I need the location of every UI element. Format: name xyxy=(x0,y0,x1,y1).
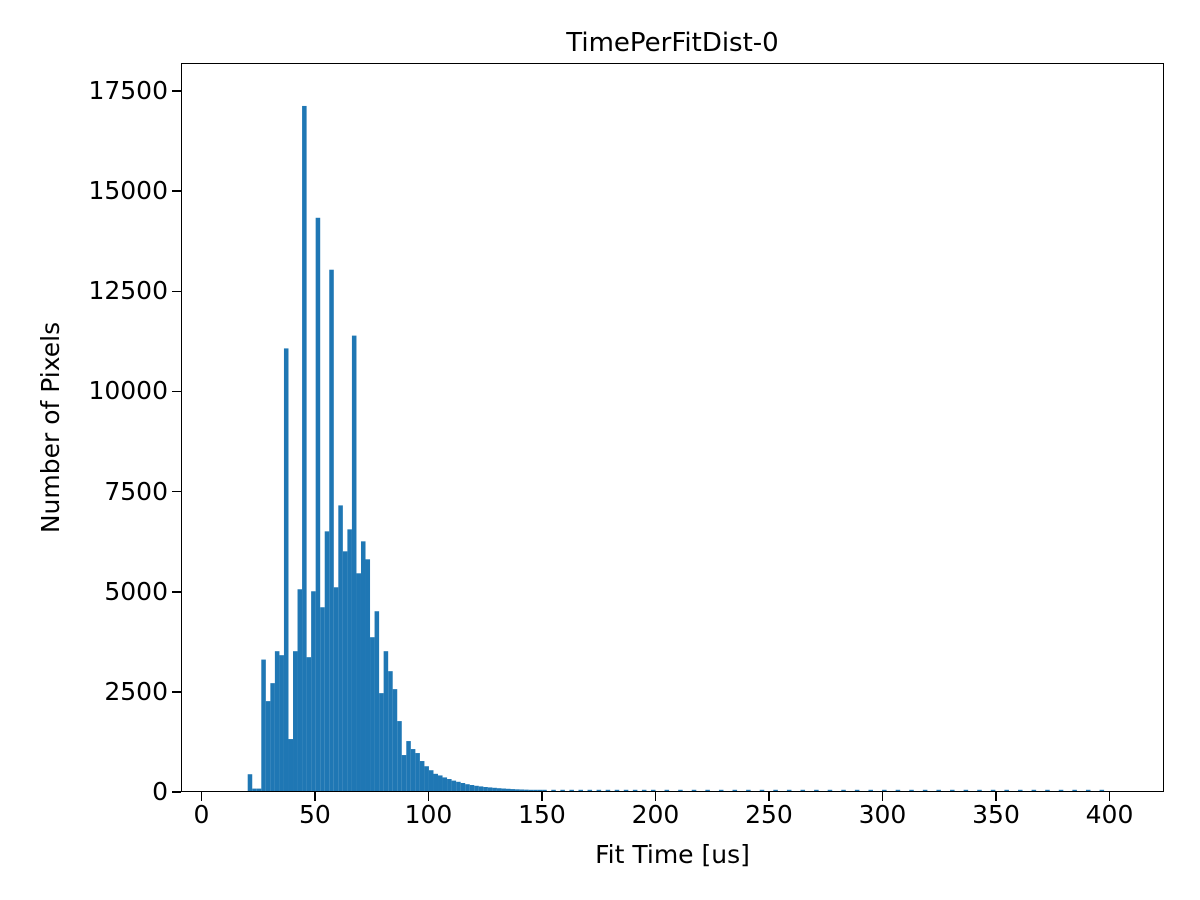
histogram-bar xyxy=(533,790,538,791)
histogram-bar xyxy=(719,790,724,791)
x-tick-mark xyxy=(655,792,657,801)
x-tick-label: 350 xyxy=(936,802,1056,827)
histogram-bar xyxy=(569,790,574,791)
histogram-bar xyxy=(1004,790,1009,791)
histogram-bar xyxy=(325,531,330,791)
histogram-bar xyxy=(538,790,543,791)
y-tick-mark xyxy=(172,291,181,293)
y-tick-label: 12500 xyxy=(88,278,168,303)
histogram-bar xyxy=(501,789,506,791)
y-tick-label: 10000 xyxy=(88,378,168,403)
histogram-bar xyxy=(964,790,969,791)
histogram-bar xyxy=(479,786,484,791)
y-tick-mark xyxy=(172,791,181,793)
histogram-bar xyxy=(461,783,466,791)
histogram-bar xyxy=(424,766,429,791)
y-tick-mark xyxy=(172,491,181,493)
histogram-bar xyxy=(520,789,525,791)
histogram-bar xyxy=(447,779,452,791)
histogram-bar xyxy=(950,790,955,791)
histogram-bar xyxy=(1059,790,1064,791)
histogram-bar xyxy=(420,761,425,791)
histogram-bar xyxy=(248,774,253,791)
histogram-bar xyxy=(252,789,257,791)
histogram-bar xyxy=(1032,790,1037,791)
histogram-bar xyxy=(868,790,873,791)
histogram-bar xyxy=(429,770,434,791)
histogram-bar xyxy=(1045,790,1050,791)
histogram-bar xyxy=(923,790,928,791)
histogram-bar xyxy=(320,607,325,791)
histogram-bar xyxy=(578,790,583,791)
histogram-bar xyxy=(370,637,375,791)
y-tick-label-group: 025005000750010000125001500017500 xyxy=(0,0,168,900)
histogram-bar xyxy=(624,790,629,791)
histogram-bar xyxy=(347,529,352,791)
histogram-bar xyxy=(293,651,298,791)
histogram-bar xyxy=(316,218,321,791)
histogram-bar xyxy=(279,655,284,791)
histogram-bar xyxy=(1018,790,1023,791)
histogram-bar xyxy=(588,790,593,791)
histogram-bar xyxy=(642,790,647,791)
histogram-bar xyxy=(375,611,380,791)
y-tick-label: 0 xyxy=(152,779,168,804)
x-axis-label: Fit Time [us] xyxy=(181,840,1164,869)
histogram-bar xyxy=(814,790,819,791)
histogram-bar xyxy=(1072,790,1077,791)
histogram-bar xyxy=(456,782,461,791)
histogram-bar xyxy=(506,789,511,791)
histogram-bars xyxy=(182,64,1163,791)
histogram-bar xyxy=(746,790,751,791)
histogram-bar xyxy=(551,790,556,791)
histogram-bar xyxy=(597,790,602,791)
x-tick-label: 250 xyxy=(709,802,829,827)
histogram-bar xyxy=(1100,790,1105,791)
x-tick-mark xyxy=(1109,792,1111,801)
figure-canvas: TimePerFitDist-0 Number of Pixels 025005… xyxy=(0,0,1200,900)
histogram-bar xyxy=(615,790,620,791)
histogram-bar xyxy=(284,348,289,791)
histogram-bar xyxy=(678,790,683,791)
y-tick-mark xyxy=(172,591,181,593)
x-tick-label: 100 xyxy=(368,802,488,827)
histogram-bar xyxy=(343,551,348,791)
histogram-bar xyxy=(633,790,638,791)
histogram-bar xyxy=(379,693,384,791)
histogram-bar xyxy=(692,790,697,791)
histogram-bar xyxy=(991,790,996,791)
x-tick-label: 200 xyxy=(595,802,715,827)
histogram-bar xyxy=(524,790,529,791)
histogram-bar xyxy=(288,739,293,791)
histogram-bar xyxy=(1086,790,1091,791)
histogram-bar xyxy=(366,559,371,791)
histogram-bar xyxy=(275,651,280,791)
x-tick-label: 50 xyxy=(255,802,375,827)
x-tick-label: 150 xyxy=(482,802,602,827)
histogram-bar xyxy=(488,787,493,791)
histogram-bar xyxy=(352,336,357,791)
histogram-bar xyxy=(470,785,475,791)
histogram-bar xyxy=(936,790,941,791)
histogram-bar xyxy=(511,789,516,791)
histogram-bar xyxy=(406,741,411,791)
y-tick-label: 17500 xyxy=(88,78,168,103)
histogram-bar xyxy=(438,775,443,791)
histogram-bar xyxy=(338,505,343,791)
histogram-bar xyxy=(302,106,307,791)
histogram-bar xyxy=(606,790,611,791)
histogram-bar xyxy=(270,683,275,791)
histogram-bar xyxy=(492,788,497,791)
histogram-bar xyxy=(841,790,846,791)
histogram-bar xyxy=(393,689,398,791)
y-tick-mark xyxy=(172,691,181,693)
histogram-bar xyxy=(257,789,262,791)
histogram-bar xyxy=(474,786,479,791)
plot-area xyxy=(181,63,1164,792)
histogram-bar xyxy=(356,573,361,791)
histogram-bar xyxy=(483,787,488,791)
x-tick-mark xyxy=(541,792,543,801)
histogram-bar xyxy=(388,671,393,791)
x-tick-mark xyxy=(201,792,203,801)
histogram-bar xyxy=(733,790,738,791)
histogram-bar xyxy=(651,790,656,791)
histogram-bar xyxy=(515,789,520,791)
histogram-bar xyxy=(882,790,887,791)
chart-title: TimePerFitDist-0 xyxy=(181,28,1164,58)
x-tick-label: 300 xyxy=(822,802,942,827)
y-tick-label: 7500 xyxy=(104,479,168,504)
histogram-bar xyxy=(334,587,339,791)
histogram-bar xyxy=(329,270,334,791)
x-tick-mark xyxy=(882,792,884,801)
y-tick-label: 2500 xyxy=(104,679,168,704)
y-tick-label: 15000 xyxy=(88,178,168,203)
histogram-bar xyxy=(801,790,806,791)
histogram-bar xyxy=(307,657,312,791)
histogram-bar xyxy=(896,790,901,791)
histogram-bar xyxy=(411,749,416,791)
y-tick-mark xyxy=(172,90,181,92)
x-tick-mark xyxy=(428,792,430,801)
histogram-bar xyxy=(266,701,271,791)
histogram-bar xyxy=(909,790,914,791)
histogram-bar xyxy=(828,790,833,791)
histogram-bar xyxy=(529,790,534,791)
histogram-bar xyxy=(787,790,792,791)
x-tick-mark xyxy=(995,792,997,801)
histogram-bar xyxy=(443,777,448,791)
x-tick-mark xyxy=(768,792,770,801)
histogram-bar xyxy=(560,790,565,791)
x-tick-mark xyxy=(314,792,316,801)
y-tick-label: 5000 xyxy=(104,579,168,604)
y-tick-mark xyxy=(172,190,181,192)
histogram-bar xyxy=(311,591,316,791)
y-tick-mark xyxy=(172,391,181,393)
histogram-bar xyxy=(384,651,389,791)
histogram-bar xyxy=(433,774,438,791)
histogram-bar xyxy=(402,755,407,791)
histogram-bar xyxy=(261,660,266,791)
histogram-bar xyxy=(705,790,710,791)
histogram-bar xyxy=(665,790,670,791)
histogram-bar xyxy=(977,790,982,791)
histogram-bar xyxy=(452,781,457,791)
histogram-bar xyxy=(497,788,502,791)
histogram-bar xyxy=(855,790,860,791)
histogram-bar xyxy=(542,790,547,791)
histogram-bar xyxy=(465,784,470,791)
histogram-bar xyxy=(760,790,765,791)
histogram-bar xyxy=(415,753,420,791)
histogram-bar xyxy=(361,541,366,791)
histogram-bar xyxy=(397,721,402,791)
histogram-bar xyxy=(298,589,303,791)
x-tick-label: 0 xyxy=(141,802,261,827)
x-tick-label: 400 xyxy=(1050,802,1170,827)
histogram-bar xyxy=(773,790,778,791)
